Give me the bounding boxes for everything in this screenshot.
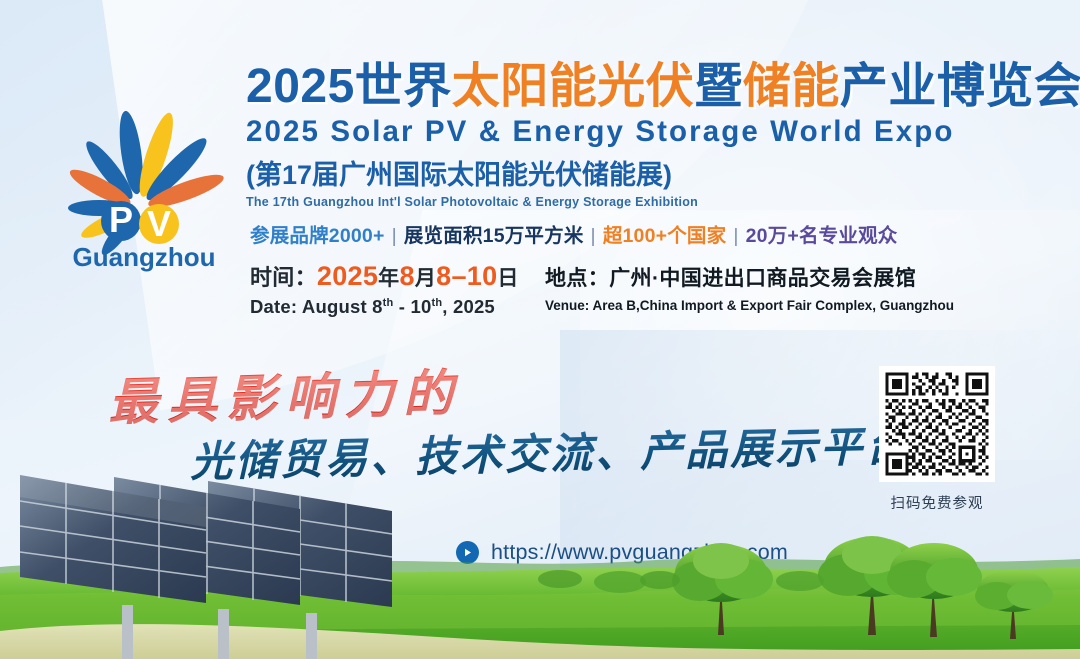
venue-english: Venue: Area B,China Import & Export Fair… — [545, 298, 954, 313]
title-part-5: 产业博览会 — [840, 60, 1080, 113]
title-subtitle-chinese: (第17届广州国际太阳能光伏储能展) — [246, 153, 1036, 192]
date-month: 8 — [399, 261, 414, 291]
title-chinese: 2025世界太阳能光伏暨储能产业博览会 — [246, 62, 1036, 112]
date-en-suffix: , 2025 — [442, 296, 495, 317]
stats-strip: 参展品牌2000+|展览面积15万平方米|超100+个国家|20万+名专业观众 — [250, 219, 898, 248]
title-part-1: 2025世界 — [246, 60, 452, 113]
date-chinese: 时间：2025年8月8–10日 — [250, 260, 519, 292]
svg-text:Guangzhou: Guangzhou — [73, 242, 216, 272]
date-days: 8–10 — [436, 261, 497, 291]
date-month-unit: 月 — [415, 267, 436, 290]
stat-separator-2: | — [584, 225, 603, 247]
title-part-4: 储能 — [743, 60, 840, 113]
stat-area: 展览面积15万平方米 — [404, 225, 584, 247]
date-english: Date: August 8th - 10th, 2025 — [250, 296, 519, 318]
venue-block: 地点：广州·中国进出口商品交易会展馆 Venue: Area B,China I… — [545, 262, 954, 313]
stat-countries: 超100+个国家 — [603, 225, 727, 247]
stat-visitors: 20万+名专业观众 — [746, 225, 898, 247]
stat-separator-1: | — [385, 225, 404, 247]
pv-guangzhou-logo: P V Guangzhou — [44, 96, 244, 276]
date-en-sup-1: th — [383, 297, 394, 309]
stat-separator-3: | — [726, 225, 745, 247]
date-year: 2025 — [317, 261, 378, 291]
title-part-3: 暨 — [694, 60, 743, 113]
svg-text:V: V — [147, 203, 171, 244]
svg-text:P: P — [109, 199, 133, 240]
title-english: 2025 Solar PV & Energy Storage World Exp… — [246, 115, 1036, 149]
expo-poster: P V Guangzhou 2025世界太阳能光伏暨储能产业博览会 2025 S… — [0, 0, 1080, 659]
date-year-unit: 年 — [378, 267, 399, 290]
stat-brands: 参展品牌2000+ — [250, 225, 385, 247]
date-day-unit: 日 — [497, 267, 518, 290]
headline-block: 2025世界太阳能光伏暨储能产业博览会 2025 Solar PV & Ener… — [246, 62, 1036, 209]
landscape-scene — [0, 449, 1080, 659]
date-en-mid: - 10 — [393, 296, 431, 317]
title-part-2: 太阳能光伏 — [452, 60, 695, 113]
date-block: 时间：2025年8月8–10日 Date: August 8th - 10th,… — [250, 260, 519, 318]
date-label: 时间： — [250, 265, 317, 290]
date-en-sup-2: th — [431, 297, 442, 309]
title-subtitle-english: The 17th Guangzhou Int'l Solar Photovolt… — [246, 195, 1036, 209]
date-en-prefix: Date: August 8 — [250, 296, 383, 317]
venue-chinese: 地点：广州·中国进出口商品交易会展馆 — [545, 262, 954, 292]
